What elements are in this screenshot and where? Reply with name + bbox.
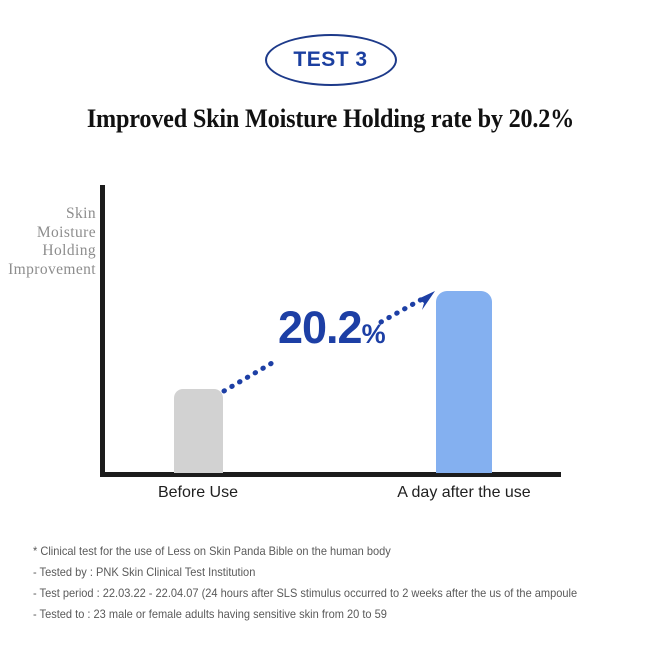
- y-axis-label: Skin Moisture Holding Improvement: [0, 205, 96, 279]
- y-axis-label-line-3: Holding: [0, 242, 96, 261]
- y-axis-label-line-4: Improvement: [0, 261, 96, 280]
- footnote-line-1: * Clinical test for the use of Less on S…: [33, 541, 603, 562]
- delta-unit: %: [362, 319, 386, 349]
- x-tick-label-after-use: A day after the use: [364, 484, 564, 502]
- footnote-line-4: - Tested to : 23 male or female adults h…: [33, 604, 603, 625]
- delta-annotation: 20.2%: [278, 302, 386, 354]
- bar-before-use: [174, 389, 223, 473]
- footnote-line-3: - Test period : 22.03.22 - 22.04.07 (24 …: [33, 583, 603, 604]
- footnote-line-2: - Tested by : PNK Skin Clinical Test Ins…: [33, 562, 603, 583]
- y-axis-line: [100, 185, 105, 477]
- y-axis-label-line-1: Skin: [0, 205, 96, 224]
- footnotes: * Clinical test for the use of Less on S…: [33, 541, 603, 625]
- bar-a-day-after-the-use: [436, 291, 492, 473]
- y-axis-label-line-2: Moisture: [0, 224, 96, 243]
- x-tick-label-before-use: Before Use: [98, 484, 298, 502]
- delta-value: 20.2: [278, 302, 362, 353]
